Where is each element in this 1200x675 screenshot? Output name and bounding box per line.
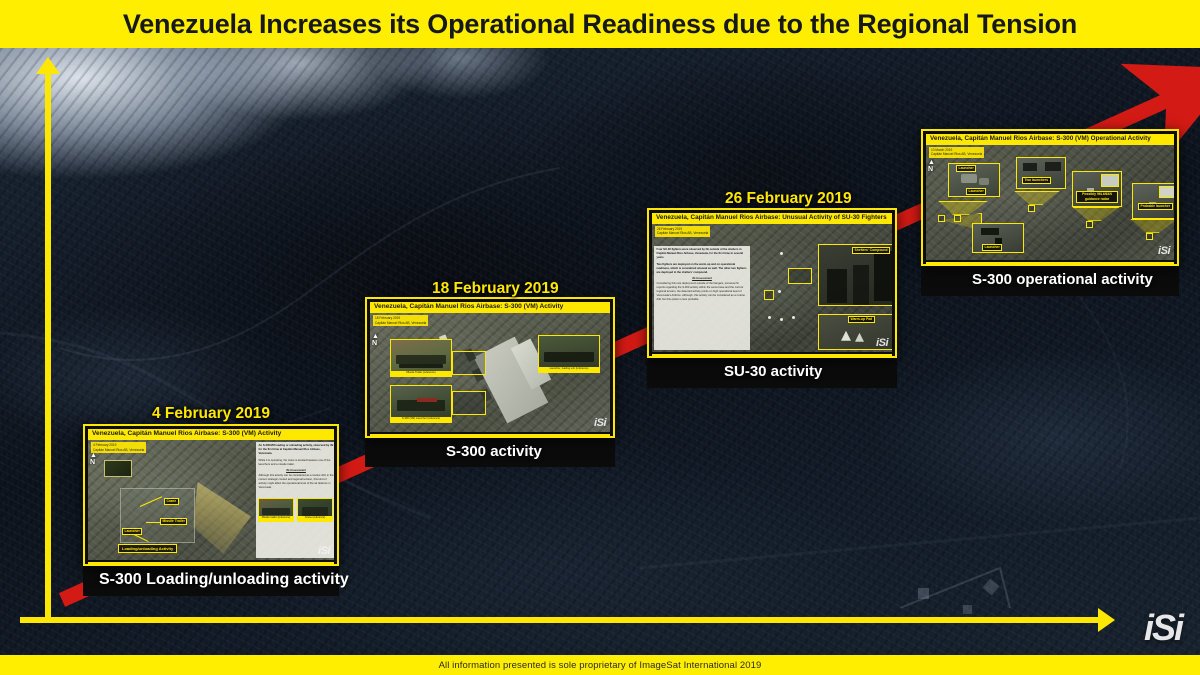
panel-4-label-probable-launcher: Probable launcher [1138, 203, 1173, 210]
panel-3-text-para2: Two fighters are deployed on the warm-up… [657, 263, 747, 274]
date-label-panel-1: 4 February 2019 [152, 405, 270, 423]
panel-4-isi-mark: iSi [1158, 245, 1170, 257]
panel-2-imagery: 18 February 2019Capitán Manuel Rios AB, … [370, 313, 610, 432]
panel-3-label-shelters: Shelters' Compound [852, 247, 890, 254]
panel-4-marker-2 [1028, 205, 1035, 212]
panel-4-cone-2 [1014, 191, 1060, 205]
panel-1-imagery: 4 February 2019Capitán Manuel Rios AB, V… [88, 440, 334, 560]
panel-1-reference-inset [104, 460, 132, 477]
panel-1-text-para2: While it is operating, the crane is loca… [259, 459, 331, 466]
panel-2-photo-trailer: Missile Trailer (reference) [390, 339, 452, 377]
north-arrow-icon: ▲N [372, 333, 379, 347]
panel-4-footer-rule [926, 262, 1174, 265]
panel-1-text-para3: Although this activity can be considered… [259, 474, 334, 489]
panel-1[interactable]: Venezuela, Capitán Manuel Rios Airbase: … [83, 424, 339, 566]
date-label-panel-3: 26 February 2019 [725, 190, 852, 208]
panel-1-footer-rule [88, 562, 334, 565]
panel-4-label-radar: Possibly 96L6/64N guidance radar [1076, 191, 1118, 203]
panel-2-photo-launcher-caption: S-300 (VM) Launcher (reference) [391, 417, 451, 422]
panel-1-analysis-text: An S-300/VM loading or unloading activit… [256, 442, 334, 558]
operational-readiness-axis [45, 72, 51, 620]
panel-2-photo-launcher: S-300 (VM) Launcher (reference) [390, 385, 452, 423]
panel-1-terrain-wedge [193, 482, 251, 554]
panel-1-label-crane: Crane [164, 498, 179, 505]
panel-1-header: Venezuela, Capitán Manuel Rios Airbase: … [88, 429, 334, 440]
panel-4-label-two-launchers: Two launchers [1022, 177, 1051, 184]
panel-4-caption: S-300 operational activity [972, 271, 1153, 288]
panel-3-caption: SU-30 activity [724, 363, 822, 380]
panel-3-header: Venezuela, Capitán Manuel Rios Airbase: … [652, 213, 892, 224]
panel-1-isi-mark: iSi [318, 545, 330, 557]
panel-4-marker-5 [938, 215, 945, 222]
panel-2-isi-mark: iSi [594, 417, 606, 429]
north-arrow-icon: ▲N [928, 159, 935, 173]
panel-3-text-para1: Four SU-30 fighters were observed by iSi… [657, 248, 744, 259]
panel-4-date-stamp: 10 March 2019Capitán Manuel Rios AB, Ven… [929, 147, 984, 158]
panel-1-caption: S-300 Loading/unloading activity [99, 571, 349, 589]
panel-4-cone-1 [938, 201, 988, 215]
panel-4-marker-4 [1146, 233, 1153, 240]
leader-line [146, 522, 161, 523]
panel-3-text-para3: Considering this rare deployment outside… [657, 282, 745, 301]
panel-4-label-launcher-2: Launcher [982, 244, 1002, 251]
panel-4-cone-4 [1130, 219, 1174, 233]
north-arrow-icon: ▲N [90, 452, 97, 466]
panel-4-header: Venezuela, Capitán Manuel Rios Airbase: … [926, 134, 1174, 145]
panel-4-label-launcher-1b: Launcher [966, 188, 986, 195]
panel-4-marker-1 [954, 215, 961, 222]
panel-3-assessment-heading: iSi Assessment [657, 277, 748, 281]
panel-3-callout-apron [788, 268, 812, 284]
panel-2-photo-loading-unit: Launcher, loading unit (reference) [538, 335, 600, 373]
panel-4-cone-3 [1072, 207, 1120, 221]
panel-1-photo-trailer-caption: Missile trailer (reference) [259, 516, 293, 521]
panel-2[interactable]: Venezuela, Capitán Manuel Rios Airbase: … [365, 297, 615, 438]
panel-1-assessment-heading: iSi Assessment [259, 469, 334, 473]
panel-2-callout-b [452, 391, 486, 415]
panel-4-label-launcher-1: Launcher [956, 165, 976, 172]
slide-stage: 4 February 2019 Venezuela, Capitán Manue… [0, 0, 1200, 675]
panel-3-analysis-text: Four SU-30 fighters were observed by iSi… [654, 246, 750, 350]
panel-2-date-stamp: 18 February 2019Capitán Manuel Rios AB, … [373, 315, 428, 326]
page-title: Venezuela Increases its Operational Read… [123, 9, 1077, 40]
panel-1-photo-crane-caption: Crane (reference) [298, 516, 332, 521]
panel-2-callout-a [452, 351, 486, 375]
panel-3-imagery: 26 February 2019Capitán Manuel Rios AB, … [652, 224, 892, 352]
panel-4-imagery: 10 March 2019Capitán Manuel Rios AB, Ven… [926, 145, 1174, 260]
isi-logo: iSi [1144, 607, 1182, 649]
panel-2-photo-trailer-caption: Missile Trailer (reference) [391, 371, 451, 376]
panel-2-header: Venezuela, Capitán Manuel Rios Airbase: … [370, 302, 610, 313]
panel-3-footer-rule [652, 354, 892, 357]
panel-1-photo-trailer: Missile trailer (reference) [258, 498, 294, 522]
panel-3[interactable]: Venezuela, Capitán Manuel Rios Airbase: … [647, 208, 897, 358]
copyright-notice: All information presented is sole propri… [439, 660, 762, 671]
footer-bar: All information presented is sole propri… [0, 655, 1200, 675]
panel-1-label-launcher: Launcher [122, 528, 142, 535]
panel-3-label-warmup-pad: Warm-up Pad [848, 316, 875, 323]
panel-2-footer-rule [370, 434, 610, 437]
panel-2-photo-loading-caption: Launcher, loading unit (reference) [539, 367, 599, 372]
panel-1-text-para1: An S-300/VM loading or unloading activit… [259, 444, 334, 455]
panel-4[interactable]: Venezuela, Capitán Manuel Rios Airbase: … [921, 129, 1179, 266]
panel-4-marker-3 [1086, 221, 1093, 228]
date-label-panel-2: 18 February 2019 [432, 280, 559, 298]
title-bar: Venezuela Increases its Operational Read… [0, 0, 1200, 48]
panel-4-zoom-probable-launcher [1132, 183, 1174, 219]
panel-3-date-stamp: 26 February 2019Capitán Manuel Rios AB, … [655, 226, 710, 237]
panel-1-label-missile-trailer: Missile Trailer [160, 518, 187, 525]
timeline-axis [20, 617, 1098, 623]
panel-2-caption: S-300 activity [446, 443, 542, 460]
panel-1-photo-crane: Crane (reference) [297, 498, 333, 522]
panel-3-isi-mark: iSi [876, 337, 888, 349]
panel-1-label-loading-activity: Loading/unloading Activity [118, 544, 177, 553]
panel-1-date-stamp: 4 February 2019Capitán Manuel Rios AB, V… [91, 442, 146, 453]
panel-3-callout-pad [764, 290, 774, 300]
